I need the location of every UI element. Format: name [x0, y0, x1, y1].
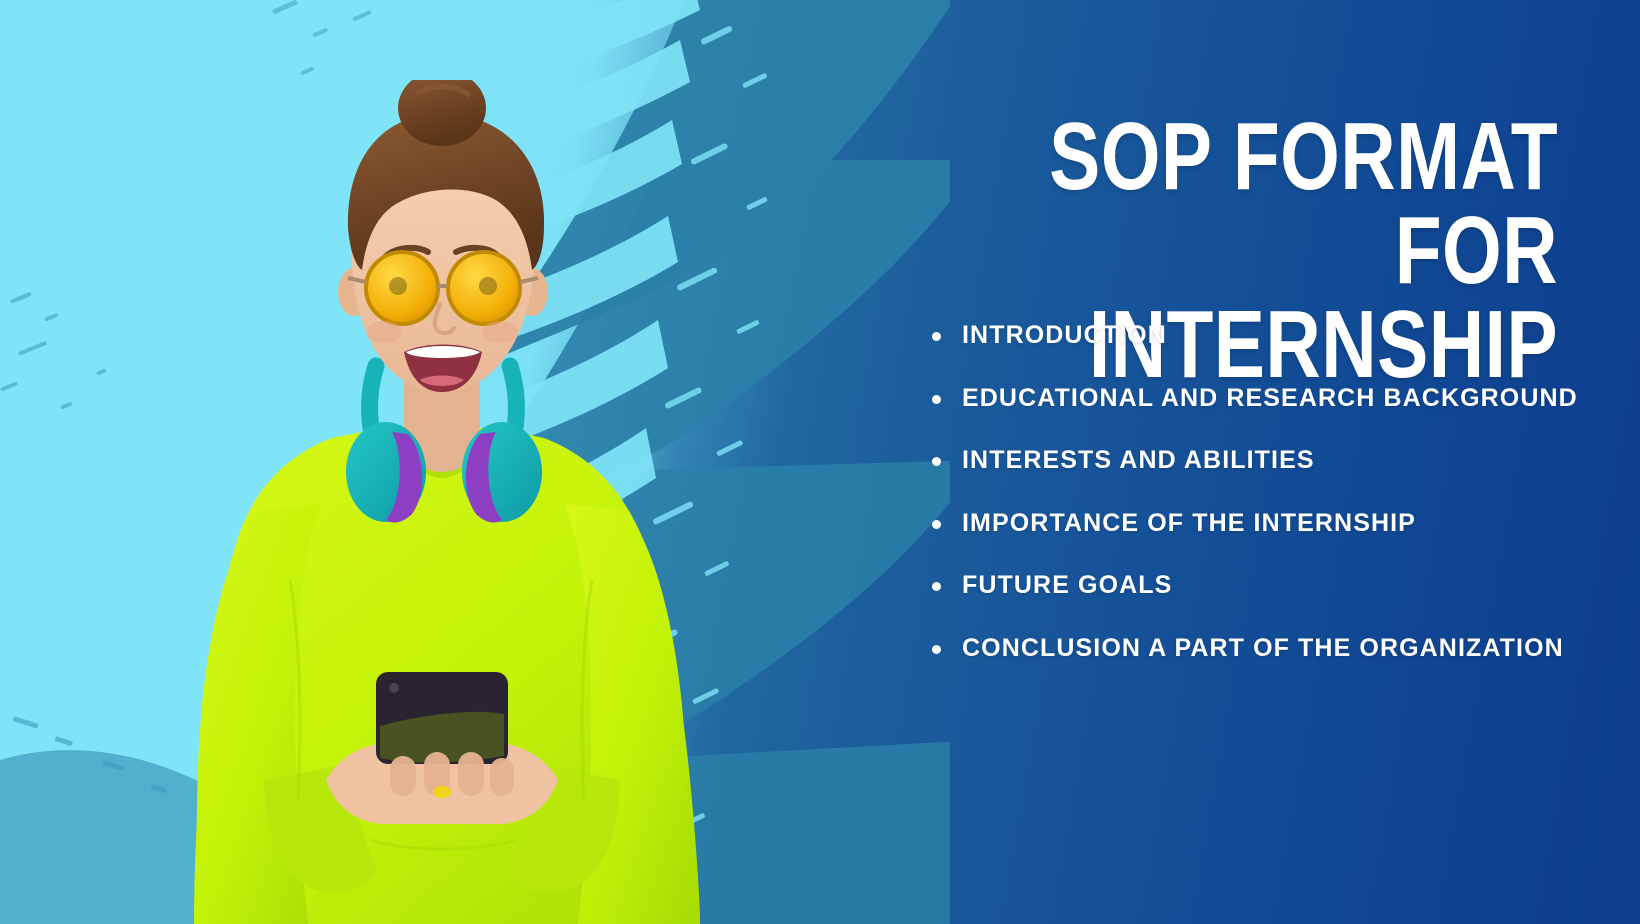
list-item: INTRODUCTION [920, 318, 1580, 353]
list-item: IMPORTANCE OF THE INTERNSHIP [920, 506, 1580, 541]
list-item: CONCLUSION A PART OF THE ORGANIZATION [920, 631, 1580, 666]
person-illustration [140, 80, 760, 924]
list-item: FUTURE GOALS [920, 568, 1580, 603]
content-column: SOP FORMAT FOR INTERNSHIP INTRODUCTION E… [880, 0, 1580, 924]
head [338, 80, 548, 392]
list-item: INTERESTS AND ABILITIES [920, 443, 1580, 478]
headphone-cup-right [462, 422, 542, 522]
sop-internship-banner: SOP FORMAT FOR INTERNSHIP INTRODUCTION E… [0, 0, 1640, 924]
list-item: EDUCATIONAL AND RESEARCH BACKGROUND [920, 381, 1580, 416]
headphone-cup-left [346, 422, 426, 522]
topic-list: INTRODUCTION EDUCATIONAL AND RESEARCH BA… [920, 318, 1580, 693]
